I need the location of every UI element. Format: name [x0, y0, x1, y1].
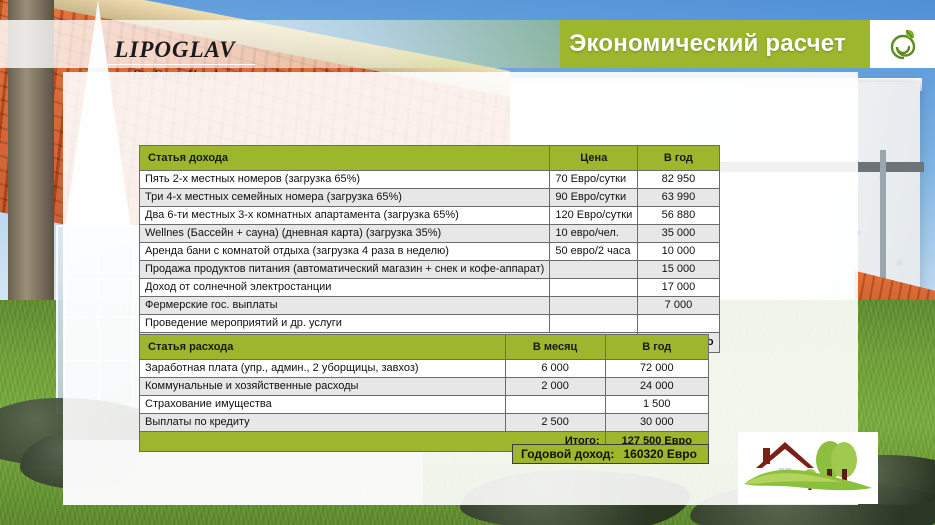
house-trees-green-swoosh-icon [738, 432, 878, 504]
expense-desc: Выплаты по кредиту [140, 414, 506, 432]
income-year: 17 000 [638, 279, 719, 297]
income-col-price: Цена [550, 146, 638, 171]
expense-table: Статья расхода В месяц В год Заработная … [139, 334, 709, 452]
footer-logo [738, 432, 878, 504]
expense-year: 1 500 [605, 396, 708, 414]
header-band: Экономический расчет LIPOGLAV EcoFarm Ho… [0, 20, 935, 68]
table-row: Пять 2-х местных номеров (загрузка 65%) … [140, 171, 720, 189]
table-row: Коммунальные и хозяйственные расходы 2 0… [140, 378, 709, 396]
income-price [550, 315, 638, 333]
income-year: 56 880 [638, 207, 719, 225]
expense-desc: Заработная плата (упр., админ., 2 уборщи… [140, 360, 506, 378]
income-price [550, 279, 638, 297]
table-row: Доход от солнечной электростанции 17 000 [140, 279, 720, 297]
annual-income-label: Годовой доход: [521, 447, 614, 461]
table-row: Страхование имущества 1 500 [140, 396, 709, 414]
income-year: 35 000 [638, 225, 719, 243]
expense-month: 2 000 [505, 378, 605, 396]
income-desc: Два 6-ти местных 3-х комнатных апартамен… [140, 207, 550, 225]
expense-table-body: Заработная плата (упр., админ., 2 уборщи… [140, 360, 709, 452]
income-desc: Три 4-х местных семейных номера (загрузк… [140, 189, 550, 207]
expense-month: 6 000 [505, 360, 605, 378]
income-price: 10 евро/чел. [550, 225, 638, 243]
income-year: 7 000 [638, 297, 719, 315]
brand-divider [95, 64, 255, 65]
expense-col-month: В месяц [505, 335, 605, 360]
expense-col-desc: Статья расхода [140, 335, 506, 360]
expense-desc: Коммунальные и хозяйственные расходы [140, 378, 506, 396]
income-year: 63 990 [638, 189, 719, 207]
income-year: 82 950 [638, 171, 719, 189]
income-price [550, 297, 638, 315]
table-row: Wellnes (Бассейн + сауна) (дневная карта… [140, 225, 720, 243]
income-desc: Wellnes (Бассейн + сауна) (дневная карта… [140, 225, 550, 243]
slide: Экономический расчет LIPOGLAV EcoFarm Ho… [0, 0, 935, 525]
income-price: 90 Евро/сутки [550, 189, 638, 207]
table-row: Два 6-ти местных 3-х комнатных апартамен… [140, 207, 720, 225]
expense-month: 2 500 [505, 414, 605, 432]
table-row: Фермерские гос. выплаты 7 000 [140, 297, 720, 315]
annual-income-box: Годовой доход: 160320 Евро [512, 444, 709, 464]
annual-income-value: 160320 Евро [614, 447, 700, 461]
expense-year: 24 000 [605, 378, 708, 396]
income-desc: Фермерские гос. выплаты [140, 297, 550, 315]
income-year: 10 000 [638, 243, 719, 261]
expense-table-header-row: Статья расхода В месяц В год [140, 335, 709, 360]
table-row: Три 4-х местных семейных номера (загрузк… [140, 189, 720, 207]
table-row: Заработная плата (упр., админ., 2 уборщи… [140, 360, 709, 378]
table-row: Выплаты по кредиту 2 500 30 000 [140, 414, 709, 432]
income-price [550, 261, 638, 279]
table-row: Продажа продуктов питания (автоматически… [140, 261, 720, 279]
green-snail-leaf-icon [886, 27, 920, 61]
income-desc: Продажа продуктов питания (автоматически… [140, 261, 550, 279]
income-desc: Аренда бани с комнатой отдыха (загрузка … [140, 243, 550, 261]
expense-year: 30 000 [605, 414, 708, 432]
table-row: Проведение мероприятий и др. услуги [140, 315, 720, 333]
income-price: 50 евро/2 часа [550, 243, 638, 261]
income-desc: Проведение мероприятий и др. услуги [140, 315, 550, 333]
income-col-desc: Статья дохода [140, 146, 550, 171]
expense-col-year: В год [605, 335, 708, 360]
table-row: Аренда бани с комнатой отдыха (загрузка … [140, 243, 720, 261]
brand-name: LIPOGLAV [55, 38, 295, 61]
page-title: Экономический расчет [560, 20, 860, 68]
income-desc: Доход от солнечной электростанции [140, 279, 550, 297]
income-col-year: В год [638, 146, 719, 171]
header-logo [870, 20, 935, 68]
income-table: Статья дохода Цена В год Пять 2-х местны… [139, 145, 720, 353]
expense-desc: Страхование имущества [140, 396, 506, 414]
income-year: 15 000 [638, 261, 719, 279]
income-year [638, 315, 719, 333]
income-price: 70 Евро/сутки [550, 171, 638, 189]
expense-month [505, 396, 605, 414]
income-table-body: Пять 2-х местных номеров (загрузка 65%) … [140, 171, 720, 353]
income-price: 120 Евро/сутки [550, 207, 638, 225]
income-desc: Пять 2-х местных номеров (загрузка 65%) [140, 171, 550, 189]
income-table-header-row: Статья дохода Цена В год [140, 146, 720, 171]
expense-year: 72 000 [605, 360, 708, 378]
